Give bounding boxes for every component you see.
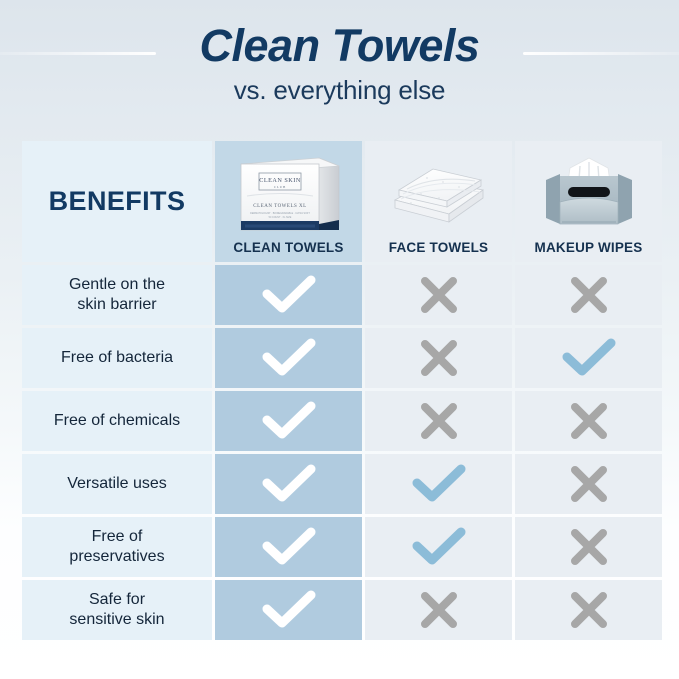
check-icon xyxy=(561,336,617,380)
comparison-cell xyxy=(515,580,662,640)
page-title: Clean Towels xyxy=(0,22,679,70)
comparison-cell xyxy=(365,517,512,577)
check-icon xyxy=(261,336,317,380)
comparison-cell xyxy=(215,517,362,577)
svg-text:CLEAN SKIN: CLEAN SKIN xyxy=(259,177,301,184)
table-row: Free of preservatives xyxy=(22,517,656,577)
check-icon xyxy=(261,525,317,569)
benefit-label: Free of preservatives xyxy=(69,527,164,566)
cross-icon xyxy=(567,399,611,443)
comparison-cell xyxy=(515,265,662,325)
check-icon xyxy=(411,462,467,506)
table-row: Safe for sensitive skin xyxy=(22,580,656,640)
svg-text:CLEAN TOWELS XL: CLEAN TOWELS XL xyxy=(253,204,306,209)
comparison-cell xyxy=(215,265,362,325)
comparison-cell xyxy=(515,328,662,388)
benefit-label-cell: Versatile uses xyxy=(22,454,212,514)
comparison-cell xyxy=(215,454,362,514)
cross-icon xyxy=(417,588,461,632)
cross-icon xyxy=(417,273,461,317)
cross-icon xyxy=(567,273,611,317)
cross-icon xyxy=(567,588,611,632)
product-illustration: CLEAN SKIN CLUB CLEAN TOWELS XL DERMATOL… xyxy=(215,141,362,240)
benefit-label: Gentle on the skin barrier xyxy=(69,275,165,314)
check-icon xyxy=(261,399,317,443)
check-icon xyxy=(261,588,317,632)
comparison-cell xyxy=(365,265,512,325)
folded-towel-icon xyxy=(387,156,491,230)
cross-icon xyxy=(567,525,611,569)
column-header-label: FACE TOWELS xyxy=(389,240,488,255)
cross-icon xyxy=(417,399,461,443)
column-header-clean-towels: CLEAN SKIN CLUB CLEAN TOWELS XL DERMATOL… xyxy=(215,141,362,262)
table-header-row: BENEFITS CLEAN SKIN CLUB CLEAN TOWELS XL xyxy=(22,141,656,262)
comparison-cell xyxy=(215,580,362,640)
benefit-label-cell: Free of chemicals xyxy=(22,391,212,451)
title-block: Clean Towels vs. everything else xyxy=(0,22,679,104)
benefits-header-cell: BENEFITS xyxy=(22,141,212,262)
comparison-cell xyxy=(215,328,362,388)
comparison-cell xyxy=(515,391,662,451)
column-header-face-towels: FACE TOWELS xyxy=(365,141,512,262)
wipes-package-icon xyxy=(540,154,638,232)
comparison-cell xyxy=(515,454,662,514)
column-header-label: CLEAN TOWELS xyxy=(233,240,343,255)
svg-text:DERMATOLOGIST · BIODEGRADABLE: DERMATOLOGIST · BIODEGRADABLE · ULTRA SO… xyxy=(250,212,310,215)
clean-towels-box-icon: CLEAN SKIN CLUB CLEAN TOWELS XL DERMATOL… xyxy=(235,152,343,234)
check-icon xyxy=(411,525,467,569)
benefits-header-label: BENEFITS xyxy=(49,186,186,217)
table-row: Versatile uses xyxy=(22,454,656,514)
svg-text:50 COUNT · XL SIZE: 50 COUNT · XL SIZE xyxy=(268,216,291,219)
column-header-makeup-wipes: MAKEUP WIPES xyxy=(515,141,662,262)
comparison-cell xyxy=(515,517,662,577)
comparison-infographic: Clean Towels vs. everything else BENEFIT… xyxy=(0,0,679,679)
comparison-cell xyxy=(365,328,512,388)
comparison-cell xyxy=(365,454,512,514)
product-illustration xyxy=(365,141,512,240)
check-icon xyxy=(261,273,317,317)
comparison-table: BENEFITS CLEAN SKIN CLUB CLEAN TOWELS XL xyxy=(22,141,656,640)
benefit-label: Versatile uses xyxy=(67,474,167,494)
benefit-label-cell: Gentle on the skin barrier xyxy=(22,265,212,325)
benefit-label: Free of chemicals xyxy=(54,411,180,431)
svg-text:CLUB: CLUB xyxy=(273,185,285,189)
table-row: Gentle on the skin barrier xyxy=(22,265,656,325)
table-row: Free of bacteria xyxy=(22,328,656,388)
cross-icon xyxy=(417,336,461,380)
benefit-label-cell: Safe for sensitive skin xyxy=(22,580,212,640)
check-icon xyxy=(261,462,317,506)
page-subtitle: vs. everything else xyxy=(0,76,679,105)
comparison-cell xyxy=(215,391,362,451)
cross-icon xyxy=(567,462,611,506)
benefit-label-cell: Free of preservatives xyxy=(22,517,212,577)
benefit-label: Safe for sensitive skin xyxy=(69,590,164,629)
table-row: Free of chemicals xyxy=(22,391,656,451)
comparison-cell xyxy=(365,580,512,640)
column-header-label: MAKEUP WIPES xyxy=(535,240,643,255)
benefit-label-cell: Free of bacteria xyxy=(22,328,212,388)
benefit-label: Free of bacteria xyxy=(61,348,173,368)
comparison-cell xyxy=(365,391,512,451)
product-illustration xyxy=(515,141,662,240)
